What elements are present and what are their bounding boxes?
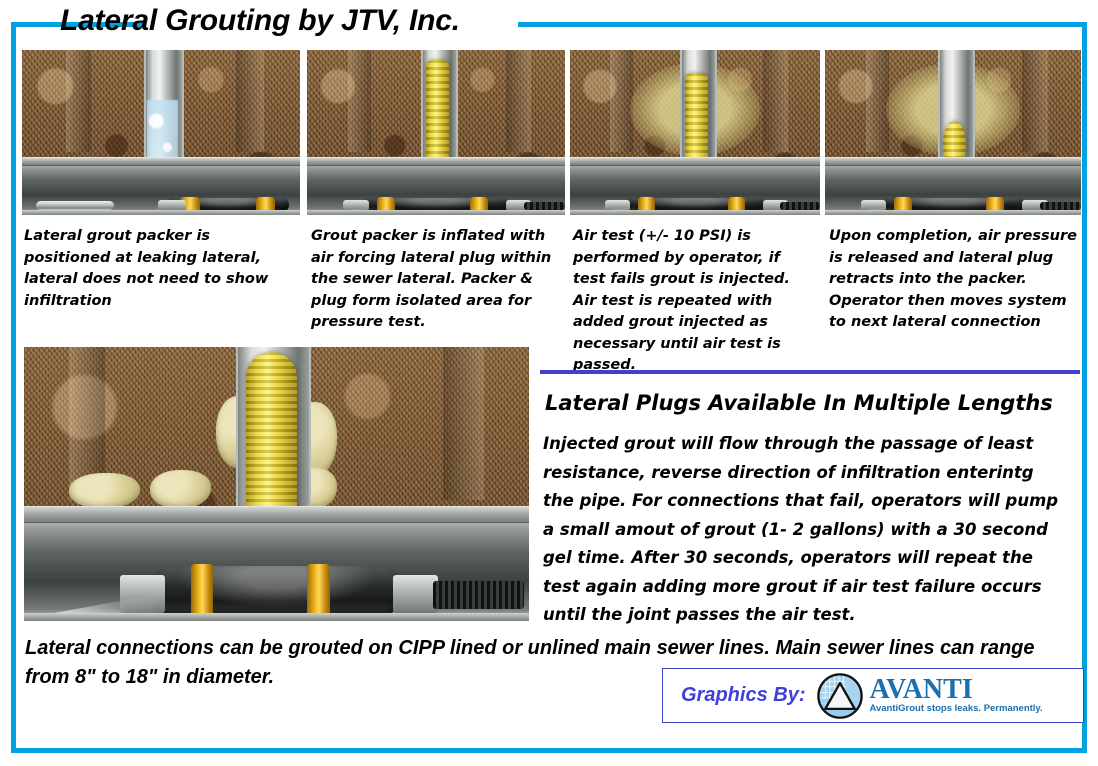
pipe-haunch (825, 157, 1081, 166)
soil-trench-left (66, 50, 91, 152)
soil-trench-right (236, 50, 264, 152)
pipe-invert (825, 210, 1081, 215)
packer-band-right (307, 564, 330, 618)
grout-mass-left-lower (69, 473, 140, 509)
frame-border-top-right (518, 22, 1087, 27)
pipe-invert (22, 210, 300, 215)
soil-trench-right (506, 50, 532, 152)
soil-trench-right (763, 50, 788, 152)
pipe-haunch (307, 157, 565, 166)
lateral-plug-inflated (426, 60, 449, 162)
pipe-haunch (22, 157, 300, 166)
packer-end-right (393, 575, 438, 612)
illustration-panel-4 (825, 50, 1081, 215)
lateral-plug-inflated (685, 73, 708, 165)
air-hose (433, 581, 524, 608)
soil-trench-left (610, 50, 633, 152)
frame-border-left (11, 22, 16, 753)
avanti-logo: AVANTI AvantiGrout stops leaks. Permanen… (817, 673, 1042, 719)
soil-trench-right (1022, 50, 1048, 152)
panel-3-caption: Air test (+/- 10 PSI) is performed by op… (573, 226, 805, 377)
graphics-by-label: Graphics By: (681, 684, 805, 707)
main-sewer-pipe (570, 160, 820, 215)
pipe-haunch (570, 157, 820, 166)
avanti-tagline: AvantiGrout stops leaks. Permanently. (869, 703, 1042, 715)
packer-end-left (158, 200, 186, 211)
graphics-credit-box: Graphics By: AVANTI AvantiGrout stops le… (662, 668, 1084, 723)
panel-2-caption: Grout packer is inflated with air forcin… (311, 226, 555, 334)
air-hose (1040, 202, 1081, 210)
air-hose (524, 202, 565, 210)
soil-trench-right (443, 347, 483, 500)
avanti-wordmark: AVANTI (869, 676, 1042, 703)
sonde-device (36, 201, 114, 209)
pipe-invert (24, 613, 529, 621)
section-body: Injected grout will flow through the pas… (543, 430, 1063, 630)
main-sewer-pipe (825, 160, 1081, 215)
grout-mass-mid-lower (150, 470, 211, 508)
section-divider (540, 370, 1080, 374)
pipe-haunch (24, 506, 529, 523)
illustration-panel-1 (22, 50, 300, 215)
packer-band-left (191, 564, 214, 618)
panel-1-caption: Lateral grout packer is positioned at le… (24, 226, 296, 312)
grout-packer-body (150, 566, 403, 616)
soil-trench-left (348, 50, 371, 152)
frame-border-bottom (11, 748, 1087, 753)
soil-trench-left (866, 50, 889, 152)
section-heading: Lateral Plugs Available In Multiple Leng… (545, 388, 1085, 418)
illustration-panel-3 (570, 50, 820, 215)
panel-4-caption: Upon completion, air pressure is release… (829, 226, 1079, 334)
main-sewer-pipe (24, 515, 529, 621)
feature-illustration (24, 347, 529, 621)
avanti-globe-triangle-icon (817, 673, 863, 719)
main-sewer-pipe (22, 160, 300, 215)
avanti-text-block: AVANTI AvantiGrout stops leaks. Permanen… (869, 676, 1042, 715)
illustration-panel-2 (307, 50, 565, 215)
main-sewer-pipe (307, 160, 565, 215)
air-hose (780, 202, 820, 210)
pipe-invert (570, 210, 820, 215)
pipe-invert (307, 210, 565, 215)
page-title: Lateral Grouting by JTV, Inc. (60, 0, 510, 42)
lateral-plug-inflated (246, 352, 297, 527)
